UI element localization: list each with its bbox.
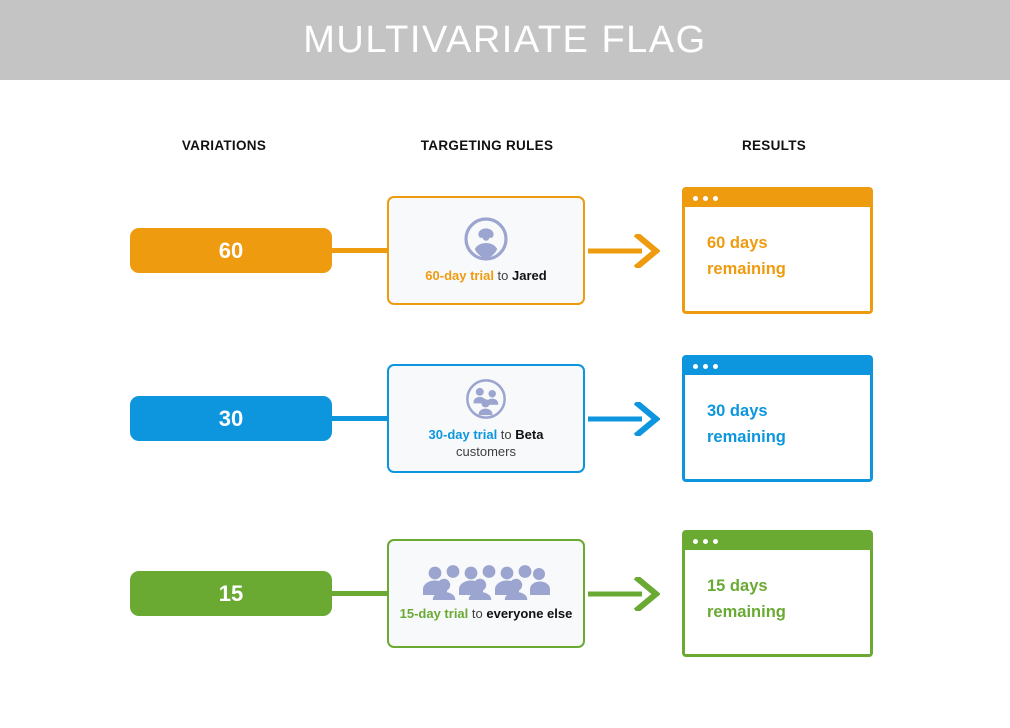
result-text: 60 days remaining <box>707 231 786 282</box>
window-body: 15 days remaining <box>685 550 870 654</box>
page-title: MULTIVARIATE FLAG <box>303 21 706 59</box>
window-dot-icon <box>713 539 718 544</box>
window-body: 60 days remaining <box>685 207 870 311</box>
connector-line <box>330 591 388 596</box>
variation-value: 15 <box>219 583 243 605</box>
window-title-bar <box>685 190 870 207</box>
result-text: 30 days remaining <box>707 399 786 450</box>
window-dot-icon <box>703 539 708 544</box>
rule-plain-text: customers <box>456 444 516 459</box>
window-title-bar <box>685 358 870 375</box>
arrow-right-icon <box>588 234 660 268</box>
variation-value: 60 <box>219 240 243 262</box>
flag-row: 60 60-day trial to Jared <box>0 178 1010 353</box>
variation-value: 30 <box>219 408 243 430</box>
targeting-rule-text: 60-day trial to Jared <box>425 268 546 285</box>
arrow-right-icon <box>588 577 660 611</box>
window-dot-icon <box>703 196 708 201</box>
rule-middle-text: to <box>494 268 512 283</box>
result-browser-window[interactable]: 30 days remaining <box>682 355 873 482</box>
flag-row: 15 <box>0 521 1010 696</box>
page-header-banner: MULTIVARIATE FLAG <box>0 0 1010 80</box>
flag-row: 30 30-day trial to Beta customers <box>0 346 1010 521</box>
window-dot-icon <box>693 539 698 544</box>
group-people-circle-icon <box>464 377 508 421</box>
targeting-rule-card[interactable]: 30-day trial to Beta customers <box>387 364 585 473</box>
rule-strong-text: everyone else <box>486 606 572 621</box>
column-header-targeting-rules: TARGETING RULES <box>421 138 554 153</box>
connector-line <box>330 416 388 421</box>
window-dot-icon <box>693 196 698 201</box>
column-header-results: RESULTS <box>742 138 806 153</box>
window-dot-icon <box>703 364 708 369</box>
rule-strong-text: Jared <box>512 268 547 283</box>
targeting-rule-card[interactable]: 15-day trial to everyone else <box>387 539 585 648</box>
window-title-bar <box>685 533 870 550</box>
targeting-rule-card[interactable]: 60-day trial to Jared <box>387 196 585 305</box>
rule-accent-text: 60-day trial <box>425 268 494 283</box>
result-browser-window[interactable]: 60 days remaining <box>682 187 873 314</box>
crowd-icon <box>422 564 550 600</box>
connector-line <box>330 248 388 253</box>
rule-strong-text: Beta <box>515 427 543 442</box>
rule-middle-text: to <box>497 427 515 442</box>
result-browser-window[interactable]: 15 days remaining <box>682 530 873 657</box>
rule-accent-text: 30-day trial <box>429 427 498 442</box>
targeting-rule-text: 15-day trial to everyone else <box>400 606 573 623</box>
window-body: 30 days remaining <box>685 375 870 479</box>
variation-pill[interactable]: 15 <box>130 571 332 616</box>
window-dot-icon <box>713 364 718 369</box>
window-dot-icon <box>693 364 698 369</box>
single-person-circle-icon <box>463 216 509 262</box>
targeting-rule-text: 30-day trial to Beta customers <box>399 427 573 460</box>
column-header-variations: VARIATIONS <box>182 138 266 153</box>
rule-middle-text: to <box>468 606 486 621</box>
window-dot-icon <box>713 196 718 201</box>
column-header-row: VARIATIONS TARGETING RULES RESULTS <box>0 138 1010 178</box>
variation-pill[interactable]: 60 <box>130 228 332 273</box>
rule-accent-text: 15-day trial <box>400 606 469 621</box>
arrow-right-icon <box>588 402 660 436</box>
result-text: 15 days remaining <box>707 574 786 625</box>
variation-pill[interactable]: 30 <box>130 396 332 441</box>
